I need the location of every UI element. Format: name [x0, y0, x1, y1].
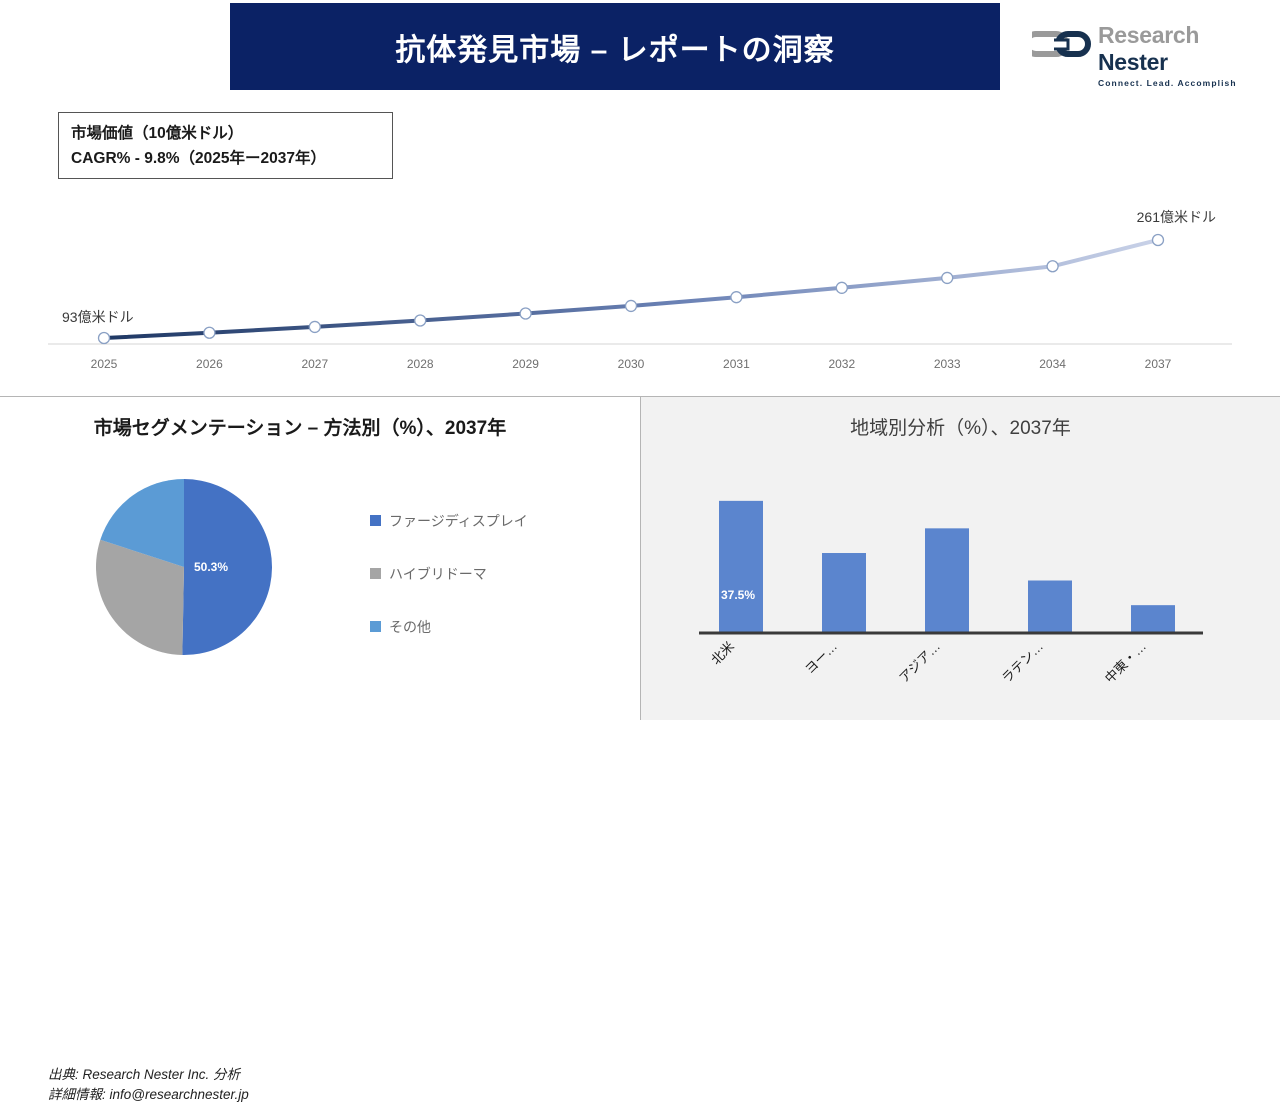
x-axis-tick: 2034: [1039, 357, 1066, 371]
line-series: [104, 240, 1158, 338]
legend-item-label: ファージディスプレイ: [389, 511, 528, 531]
line-data-point: [520, 308, 531, 319]
logo-word-nester: Nester: [1098, 49, 1168, 75]
title-banner: 抗体発見市場 – レポートの洞察: [230, 3, 1000, 90]
line-chart-svg: 2025202620272028202920302031203220332034…: [0, 95, 1280, 395]
bar-category-labels: 北米ヨー…アジア…ラテン…中東・…: [708, 639, 1149, 686]
line-data-point: [415, 315, 426, 326]
pie-legend: ファージディスプレイハイブリドーマその他: [370, 494, 570, 653]
bar: [719, 501, 763, 633]
line-data-point: [1153, 235, 1164, 246]
x-axis-tick: 2025: [91, 357, 118, 371]
header: 抗体発見市場 – レポートの洞察 Research Nester Connect…: [0, 0, 1280, 95]
bar-category-label: ラテン…: [999, 639, 1046, 686]
end-value-label: 261億米ドル: [1137, 209, 1216, 225]
pie-chart-title: 市場セグメンテーション – 方法別（%）、2037年: [0, 411, 600, 447]
market-value-line-chart-panel: 市場価値（10億米ドル） CAGR% - 9.8%（2025年ー2037年） 2…: [0, 95, 1280, 395]
legend-swatch-icon: [370, 568, 381, 579]
regional-bar-panel: 地域別分析（%）、2037年 37.5% 北米ヨー…アジア…ラテン…中東・…: [640, 396, 1280, 720]
legend-item[interactable]: その他: [370, 600, 570, 653]
logo-tagline: Connect. Lead. Accomplish: [1098, 78, 1258, 88]
x-axis-tick: 2037: [1145, 357, 1172, 371]
bar-chart-svg: 37.5% 北米ヨー…アジア…ラテン…中東・…: [641, 455, 1280, 720]
source-note: 出典: Research Nester Inc. 分析 詳細情報: info@r…: [48, 1065, 249, 1105]
logo-mark-icon: [1032, 28, 1092, 61]
line-data-point: [1047, 261, 1058, 272]
line-data-point: [99, 333, 110, 344]
bar-category-label: 北米: [708, 639, 737, 668]
page-title: 抗体発見市場 – レポートの洞察: [395, 25, 834, 69]
x-axis-tick: 2031: [723, 357, 750, 371]
line-markers: [99, 235, 1164, 344]
x-axis-tick: 2028: [407, 357, 434, 371]
x-axis-tick: 2027: [301, 357, 328, 371]
logo-wordmark: Research Nester Connect. Lead. Accomplis…: [1098, 22, 1258, 88]
bar-category-label: ヨー…: [802, 639, 840, 677]
legend-item-label: その他: [389, 617, 431, 637]
x-axis-tick: 2030: [618, 357, 645, 371]
line-data-point: [942, 272, 953, 283]
legend-item[interactable]: ファージディスプレイ: [370, 494, 570, 547]
legend-item[interactable]: ハイブリドーマ: [370, 547, 570, 600]
x-axis-tick: 2032: [828, 357, 855, 371]
line-data-point: [204, 327, 215, 338]
bar-category-label: 中東・…: [1102, 639, 1149, 686]
x-axis-tick: 2026: [196, 357, 223, 371]
x-axis-tick: 2033: [934, 357, 961, 371]
brand-logo: Research Nester Connect. Lead. Accomplis…: [1032, 22, 1254, 70]
logo-word-research: Research: [1098, 22, 1199, 48]
line-data-point: [309, 321, 320, 332]
start-value-label: 93億米ドル: [62, 309, 134, 325]
source-line1: 出典: Research Nester Inc. 分析: [48, 1065, 249, 1085]
bar: [822, 553, 866, 633]
x-axis-tick-labels: 2025202620272028202920302031203220332034…: [91, 357, 1172, 371]
line-data-point: [626, 300, 637, 311]
pie-slices: [96, 479, 272, 655]
bar: [925, 528, 969, 633]
line-data-point: [731, 292, 742, 303]
pie-slice-label: 50.3%: [194, 560, 228, 574]
legend-swatch-icon: [370, 621, 381, 632]
pie-chart-svg: 50.3%: [88, 475, 288, 659]
bar-value-label: 37.5%: [721, 588, 755, 602]
x-axis-tick: 2029: [512, 357, 539, 371]
source-line2: 詳細情報: info@researchnester.jp: [48, 1085, 249, 1105]
bar-chart-title: 地域別分析（%）、2037年: [641, 413, 1280, 440]
segmentation-pie-panel: 市場セグメンテーション – 方法別（%）、2037年 50.3% ファージディス…: [0, 396, 640, 720]
line-data-point: [836, 282, 847, 293]
legend-item-label: ハイブリドーマ: [389, 564, 487, 584]
bar-series: 37.5%: [719, 501, 1175, 633]
legend-swatch-icon: [370, 515, 381, 526]
bar-category-label: アジア…: [896, 639, 943, 686]
bar: [1028, 580, 1072, 633]
bar: [1131, 605, 1175, 633]
